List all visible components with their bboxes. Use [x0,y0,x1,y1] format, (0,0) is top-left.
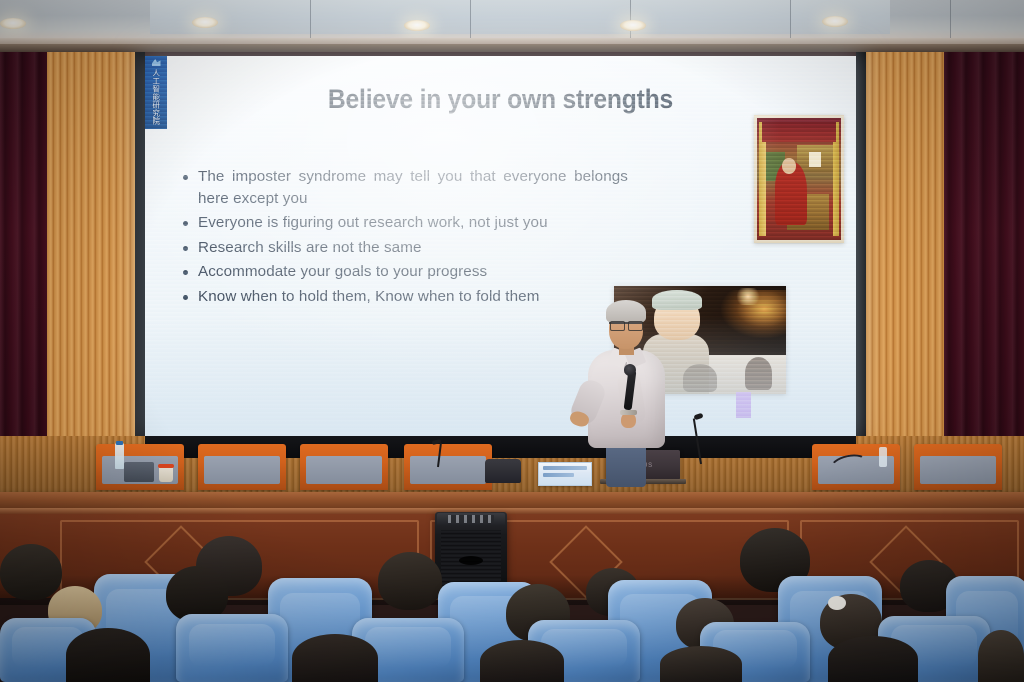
ceiling [0,0,1024,52]
chair-frame [914,444,1002,490]
eyeglass-lens [610,321,625,331]
audience-seat [176,614,288,682]
paper-cup [159,466,173,482]
screen-shading [145,316,856,436]
stage-chair [198,444,286,490]
presenter [570,300,680,485]
presenter-legs [606,443,646,487]
ceiling-panel [150,0,311,38]
stage-chair [300,444,388,490]
audience-head [292,634,378,682]
chair-frame [404,444,492,490]
audience-head [660,646,742,682]
stage-chair [404,444,492,490]
chair-frame [198,444,286,490]
screen-bezel-right [856,52,866,502]
ceiling-downlight [404,20,430,31]
desk-item-box [124,462,154,482]
ceiling-downlight [192,17,218,28]
water-bottle [879,447,887,467]
chair-pad [920,456,996,485]
audience-head [0,544,62,600]
wood-slat-panel-right [866,52,944,502]
chair-pad [204,456,280,485]
auditorium-photo: 人工智能研究院 Believe in your own strengths Th… [0,0,1024,682]
ceiling-downlight [0,18,26,29]
ceiling-panel [470,0,631,38]
pa-speaker-knobs [448,515,494,523]
audience-head [828,636,918,682]
screen-bezel-left [135,52,145,502]
stage-curtain-left [0,52,47,502]
bottle-cap [116,441,123,445]
microphone-head-icon [624,364,636,376]
chair-pad [410,456,486,485]
audience-head [378,552,442,610]
chair-pad [306,456,382,485]
ceiling-panel [630,0,791,38]
bag-on-table [485,459,521,483]
ceiling-panel [790,0,951,38]
stage-curtain-right [944,52,1024,502]
pa-speaker-port [459,556,483,565]
water-bottle [115,443,124,469]
wristwatch [620,410,637,415]
front-bench-rail [0,508,1024,514]
chair-frame [300,444,388,490]
ceiling-downlight [620,20,646,31]
stage-chair [914,444,1002,490]
audience-head [66,628,150,682]
audience-head [480,640,564,682]
projection-screen: 人工智能研究院 Believe in your own strengths Th… [145,56,856,436]
hair-clip [828,596,846,610]
wood-slat-panel-left [47,52,135,502]
ceiling-panel [310,0,471,38]
audience-head [978,630,1024,682]
eyeglass-lens [628,321,643,331]
ceiling-downlight [822,16,848,27]
paper-cup-rim [158,464,174,468]
